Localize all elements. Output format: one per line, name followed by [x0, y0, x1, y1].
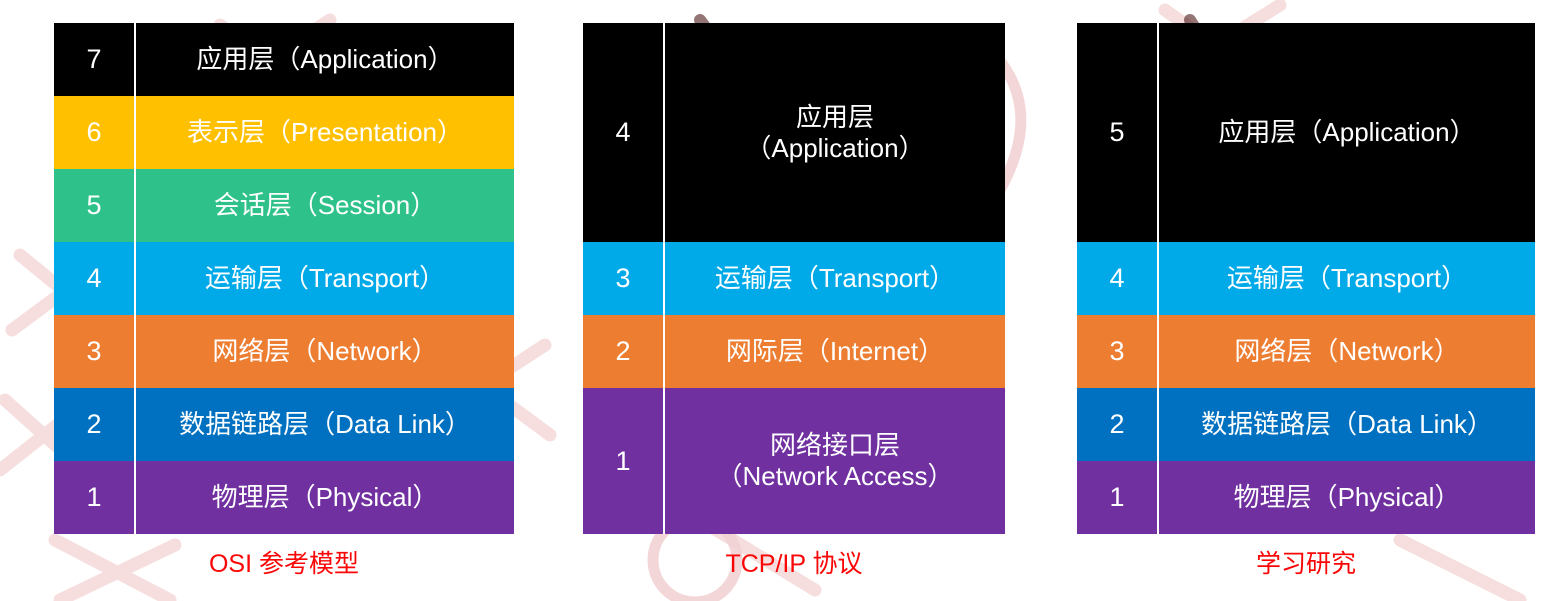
osi-layer-number-2: 2 — [54, 388, 134, 461]
tcpip-layer-label-4: 应用层 （Application） — [663, 23, 1005, 242]
study-layer-number-1: 1 — [1077, 461, 1157, 534]
osi-layer-row-6[interactable]: 6 表示层（Presentation） — [54, 96, 514, 169]
osi-layer-row-7[interactable]: 7 应用层（Application） — [54, 23, 514, 96]
study-model-table: 5 应用层（Application） 4 运输层（Transport） 3 网络… — [1077, 23, 1535, 534]
tcpip-layer-row-2[interactable]: 2 网际层（Internet） — [583, 315, 1005, 388]
osi-layer-label-7: 应用层（Application） — [134, 23, 514, 96]
study-layer-row-2[interactable]: 2 数据链路层（Data Link） — [1077, 388, 1535, 461]
osi-layer-row-5[interactable]: 5 会话层（Session） — [54, 169, 514, 242]
tcpip-layer-row-1[interactable]: 1 网络接口层 （Network Access） — [583, 388, 1005, 534]
osi-layer-number-1: 1 — [54, 461, 134, 534]
study-layer-label-3: 网络层（Network） — [1157, 315, 1535, 388]
tcpip-layer-label-2: 网际层（Internet） — [663, 315, 1005, 388]
tcpip-model-table: 4 应用层 （Application） 3 运输层（Transport） 2 网… — [583, 23, 1005, 534]
osi-layer-label-2: 数据链路层（Data Link） — [134, 388, 514, 461]
tcpip-model-caption: TCP/IP 协议 — [583, 552, 1005, 577]
study-layer-label-2: 数据链路层（Data Link） — [1157, 388, 1535, 461]
osi-layer-row-3[interactable]: 3 网络层（Network） — [54, 315, 514, 388]
diagram-canvas: 7 应用层（Application） 6 表示层（Presentation） 5… — [0, 0, 1556, 601]
osi-layer-row-1[interactable]: 1 物理层（Physical） — [54, 461, 514, 534]
osi-layer-label-3: 网络层（Network） — [134, 315, 514, 388]
study-layer-row-1[interactable]: 1 物理层（Physical） — [1077, 461, 1535, 534]
study-layer-row-5[interactable]: 5 应用层（Application） — [1077, 23, 1535, 242]
study-model-caption: 学习研究 — [1077, 552, 1535, 577]
osi-layer-number-5: 5 — [54, 169, 134, 242]
osi-layer-number-3: 3 — [54, 315, 134, 388]
tcpip-layer-number-3: 3 — [583, 242, 663, 315]
study-layer-label-4: 运输层（Transport） — [1157, 242, 1535, 315]
osi-layer-number-6: 6 — [54, 96, 134, 169]
study-layer-number-2: 2 — [1077, 388, 1157, 461]
study-layer-row-4[interactable]: 4 运输层（Transport） — [1077, 242, 1535, 315]
osi-model-caption: OSI 参考模型 — [54, 552, 514, 577]
study-layer-number-4: 4 — [1077, 242, 1157, 315]
study-layer-number-3: 3 — [1077, 315, 1157, 388]
osi-layer-label-6: 表示层（Presentation） — [134, 96, 514, 169]
study-layer-number-5: 5 — [1077, 23, 1157, 242]
tcpip-layer-row-3[interactable]: 3 运输层（Transport） — [583, 242, 1005, 315]
osi-model-table: 7 应用层（Application） 6 表示层（Presentation） 5… — [54, 23, 514, 534]
tcpip-layer-number-1: 1 — [583, 388, 663, 534]
study-layer-label-5: 应用层（Application） — [1157, 23, 1535, 242]
osi-layer-number-4: 4 — [54, 242, 134, 315]
osi-layer-row-2[interactable]: 2 数据链路层（Data Link） — [54, 388, 514, 461]
tcpip-layer-number-4: 4 — [583, 23, 663, 242]
osi-layer-label-5: 会话层（Session） — [134, 169, 514, 242]
tcpip-layer-label-3: 运输层（Transport） — [663, 242, 1005, 315]
osi-layer-row-4[interactable]: 4 运输层（Transport） — [54, 242, 514, 315]
osi-layer-label-1: 物理层（Physical） — [134, 461, 514, 534]
tcpip-layer-row-4[interactable]: 4 应用层 （Application） — [583, 23, 1005, 242]
tcpip-layer-number-2: 2 — [583, 315, 663, 388]
osi-layer-number-7: 7 — [54, 23, 134, 96]
osi-layer-label-4: 运输层（Transport） — [134, 242, 514, 315]
study-layer-row-3[interactable]: 3 网络层（Network） — [1077, 315, 1535, 388]
tcpip-layer-label-1: 网络接口层 （Network Access） — [663, 388, 1005, 534]
study-layer-label-1: 物理层（Physical） — [1157, 461, 1535, 534]
